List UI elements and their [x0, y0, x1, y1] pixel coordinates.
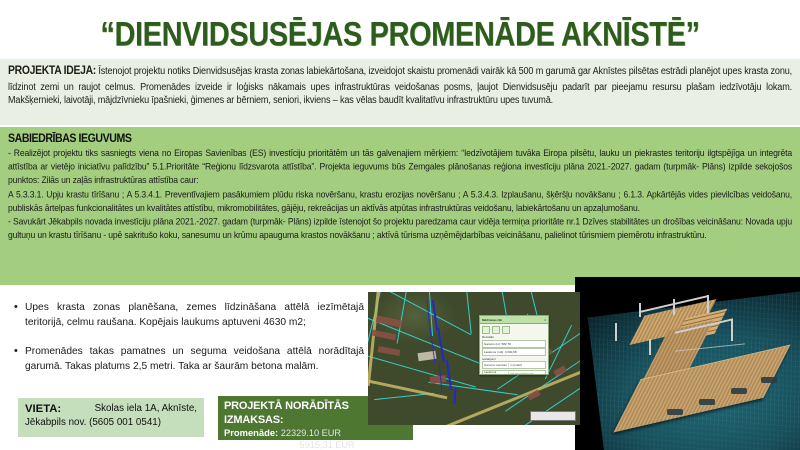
list-item-text: Promenādes takas pamatnes un seguma veid…	[25, 344, 364, 375]
length-unit-select[interactable]: Garuma vienības m (metri)	[482, 361, 546, 369]
area-unit-select[interactable]: Laukuma vienības m2 (kvadrātmetri)	[482, 370, 546, 376]
render-float	[699, 399, 715, 405]
measure-area-icon[interactable]	[492, 326, 500, 334]
map-scale-bar	[530, 411, 576, 421]
list-item: • Upes krasta zonas planēšana, zemes līd…	[14, 300, 364, 331]
measurement-tool-dialog[interactable]: Mērīšanas rīki × Rezultāti Garums (m): 5…	[479, 315, 549, 375]
public-benefit-band: SABIEDRĪBAS IEGUVUMS - Realizējot projek…	[0, 127, 800, 285]
benefit-paragraph-1: - Realizējot projektu tiks sasniegts vie…	[8, 146, 792, 187]
render-railing	[731, 319, 733, 341]
dialog-settings-label: Iestatījumi	[480, 357, 548, 361]
render-float	[667, 409, 683, 415]
location-label: VIETA:	[25, 402, 61, 416]
location-line-1: VIETA: Skolas iela 1A, Aknīste,	[25, 402, 197, 416]
length-unit-value: m (metri)	[508, 363, 545, 367]
list-item: • Promenādes takas pamatnes un seguma ve…	[14, 344, 364, 375]
project-idea-text: PROJEKTA IDEJA: Īstenojot projektu notik…	[8, 64, 792, 107]
page-title: “DIENVIDSUSĒJAS PROMENĀDE AKNĪSTĒ”	[100, 16, 699, 55]
bullet-marker-icon: •	[14, 344, 25, 359]
dialog-header: Mērīšanas rīki ×	[480, 316, 548, 324]
cost-row-label: Pomntona laipa:	[224, 439, 297, 450]
measured-area-field: Laukums (m2): 4 630,68	[482, 348, 546, 356]
area-unit-label: Laukuma vienības	[483, 370, 508, 376]
render-float	[761, 377, 777, 383]
render-railing	[615, 323, 617, 341]
length-unit-label: Garuma vienības	[483, 363, 508, 367]
scope-bullet-list: • Upes krasta zonas planēšana, zemes līd…	[14, 300, 364, 388]
render-float	[731, 388, 747, 394]
render-railing	[639, 303, 641, 317]
cost-row: Promenāde: 22329.10 EUR	[224, 427, 407, 439]
project-idea-label: PROJEKTA IDEJA:	[8, 65, 96, 77]
public-benefit-text: - Realizējot projektu tiks sasniegts vie…	[8, 146, 792, 242]
render-railing	[649, 339, 651, 355]
location-box: VIETA: Skolas iela 1A, Aknīste, Jēkabpil…	[18, 398, 204, 437]
cost-row: Pomntona laipa: 5915,31 EUR	[224, 439, 407, 450]
cost-row-value: 22329.10 EUR	[281, 428, 341, 438]
dialog-toolbar	[480, 324, 548, 335]
render-railing	[707, 295, 709, 313]
list-item-text: Upes krasta zonas planēšana, zemes līdzi…	[25, 300, 364, 331]
project-idea-band: PROJEKTA IDEJA: Īstenojot projektu notik…	[0, 59, 800, 125]
area-unit-value: m2 (kvadrātmetri)	[508, 372, 545, 376]
benefit-paragraph-2: A 5.3.3.1. Upju krastu tīrīšanu ; A 5.3.…	[8, 187, 792, 214]
benefit-paragraph-3: - Savukārt Jēkabpils novada investīciju …	[8, 214, 792, 241]
dialog-results-label: Rezultāti	[480, 335, 548, 339]
project-idea-body: Īstenojot projektu notiks Dienvidsusējas…	[8, 65, 792, 106]
public-benefit-heading: SABIEDRĪBAS IEGUVUMS	[8, 132, 792, 145]
close-icon[interactable]: ×	[544, 318, 546, 322]
bullet-marker-icon: •	[14, 300, 25, 315]
title-bar: “DIENVIDSUSĒJAS PROMENĀDE AKNĪSTĒ”	[0, 14, 800, 56]
measure-line-icon[interactable]	[482, 326, 490, 334]
pontoon-render-image	[575, 277, 800, 450]
clear-measure-icon[interactable]	[502, 326, 510, 334]
location-address-line-2: Jēkabpils nov. (5605 001 0541)	[25, 416, 197, 430]
location-address-line-1: Skolas iela 1A, Aknīste,	[95, 402, 197, 416]
render-railing	[673, 299, 675, 315]
dialog-title: Mērīšanas rīki	[482, 318, 502, 322]
measured-length-field: Garums (m): 582,78	[482, 340, 546, 348]
cadastral-map-image: Mērīšanas rīki × Rezultāti Garums (m): 5…	[368, 292, 580, 425]
cost-row-value: 5915,31 EUR	[299, 440, 354, 450]
cost-row-label: Promenāde:	[224, 427, 278, 438]
slide-root: “DIENVIDSUSĒJAS PROMENĀDE AKNĪSTĒ” PROJE…	[0, 0, 800, 450]
